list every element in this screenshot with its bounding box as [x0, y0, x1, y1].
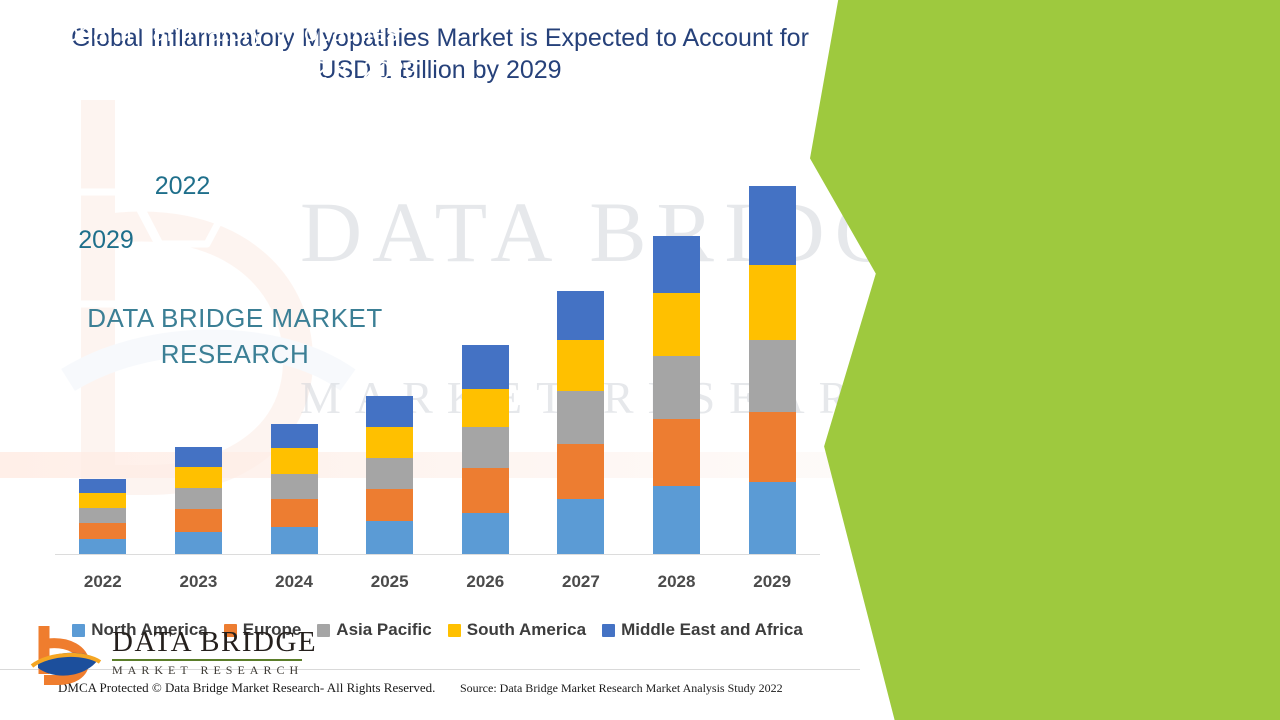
segment-europe	[175, 509, 222, 532]
x-axis-labels: 2022 2023 2024 2025 2026 2027 2028 2029	[55, 566, 820, 598]
legend-swatch-icon	[602, 624, 615, 637]
segment-north-america	[366, 521, 413, 554]
segment-europe	[557, 444, 604, 499]
green-side-panel	[810, 0, 1280, 720]
segment-middle-east-and-africa	[462, 345, 509, 389]
segment-asia-pacific	[366, 458, 413, 489]
segment-north-america	[175, 532, 222, 554]
stacked-bar[interactable]	[462, 345, 509, 554]
side-panel-brand-line2: RESEARCH	[30, 336, 440, 372]
segment-south-america	[366, 427, 413, 458]
segment-europe	[749, 412, 796, 482]
segment-asia-pacific	[271, 474, 318, 499]
segment-south-america	[271, 448, 318, 474]
hexagon-badges: 2022 2029	[20, 140, 250, 280]
x-tick-2027: 2027	[533, 566, 629, 598]
legend-swatch-icon	[448, 624, 461, 637]
segment-south-america	[749, 265, 796, 340]
data-bridge-logo-icon	[30, 622, 102, 686]
side-panel-brand: DATA BRIDGE MARKET RESEARCH	[30, 300, 440, 372]
x-tick-2029: 2029	[724, 566, 820, 598]
bar-column-2027[interactable]	[533, 170, 629, 554]
legend-label: South America	[467, 620, 586, 640]
legend-item-south-america[interactable]: South America	[448, 620, 586, 640]
segment-europe	[462, 468, 509, 513]
stacked-bar[interactable]	[79, 479, 126, 554]
bar-column-2028[interactable]	[629, 170, 725, 554]
segment-asia-pacific	[749, 340, 796, 412]
stacked-bar[interactable]	[749, 186, 796, 554]
legend-item-asia-pacific[interactable]: Asia Pacific	[317, 620, 431, 640]
segment-north-america	[749, 482, 796, 554]
legend-label: Middle East and Africa	[621, 620, 803, 640]
side-panel-title: Global Inflammatory Myopathies Market, B…	[40, 14, 440, 90]
segment-south-america	[557, 340, 604, 391]
x-tick-2028: 2028	[629, 566, 725, 598]
stacked-bar[interactable]	[557, 291, 604, 554]
logo-divider	[112, 659, 302, 661]
segment-south-america	[462, 389, 509, 427]
hex-badge-2029[interactable]: 2029	[42, 186, 170, 310]
stacked-bar[interactable]	[175, 447, 222, 554]
x-axis-line	[55, 554, 820, 555]
segment-asia-pacific	[79, 508, 126, 523]
logo-text-line1: DATA BRIDGE	[112, 626, 317, 658]
segment-europe	[653, 419, 700, 486]
segment-europe	[366, 489, 413, 521]
data-bridge-logo: DATA BRIDGE MARKET RESEARCH	[30, 618, 330, 690]
logo-text-line2: MARKET RESEARCH	[112, 663, 317, 677]
bar-column-2026[interactable]	[438, 170, 534, 554]
footer-source: Source: Data Bridge Market Research Mark…	[460, 681, 783, 696]
infographic-page: DATA BRIDGE MARKET RESEARCH Global Infla…	[0, 0, 1280, 720]
segment-middle-east-and-africa	[557, 291, 604, 340]
stacked-bar[interactable]	[271, 424, 318, 554]
segment-asia-pacific	[462, 427, 509, 468]
x-tick-2025: 2025	[342, 566, 438, 598]
logo-text: DATA BRIDGE MARKET RESEARCH	[112, 626, 317, 677]
side-panel-brand-line1: DATA BRIDGE MARKET	[30, 300, 440, 336]
legend-item-middle-east-and-africa[interactable]: Middle East and Africa	[602, 620, 803, 640]
segment-middle-east-and-africa	[175, 447, 222, 467]
segment-europe	[271, 499, 318, 527]
segment-asia-pacific	[557, 391, 604, 444]
segment-north-america	[653, 486, 700, 554]
segment-middle-east-and-africa	[271, 424, 318, 448]
segment-middle-east-and-africa	[79, 479, 126, 493]
segment-middle-east-and-africa	[653, 236, 700, 293]
segment-south-america	[653, 293, 700, 356]
segment-europe	[79, 523, 126, 539]
x-tick-2023: 2023	[151, 566, 247, 598]
bar-column-2029[interactable]	[724, 170, 820, 554]
x-tick-2026: 2026	[438, 566, 534, 598]
stacked-bar[interactable]	[653, 236, 700, 554]
segment-asia-pacific	[175, 488, 222, 509]
segment-south-america	[79, 493, 126, 508]
x-tick-2022: 2022	[55, 566, 151, 598]
stacked-bar[interactable]	[366, 396, 413, 554]
segment-middle-east-and-africa	[749, 186, 796, 265]
segment-north-america	[79, 539, 126, 554]
legend-label: Asia Pacific	[336, 620, 431, 640]
x-tick-2024: 2024	[246, 566, 342, 598]
hex-badge-label: 2029	[42, 226, 170, 255]
segment-south-america	[175, 467, 222, 488]
segment-asia-pacific	[653, 356, 700, 419]
segment-north-america	[462, 513, 509, 554]
segment-north-america	[557, 499, 604, 554]
segment-middle-east-and-africa	[366, 396, 413, 427]
segment-north-america	[271, 527, 318, 554]
